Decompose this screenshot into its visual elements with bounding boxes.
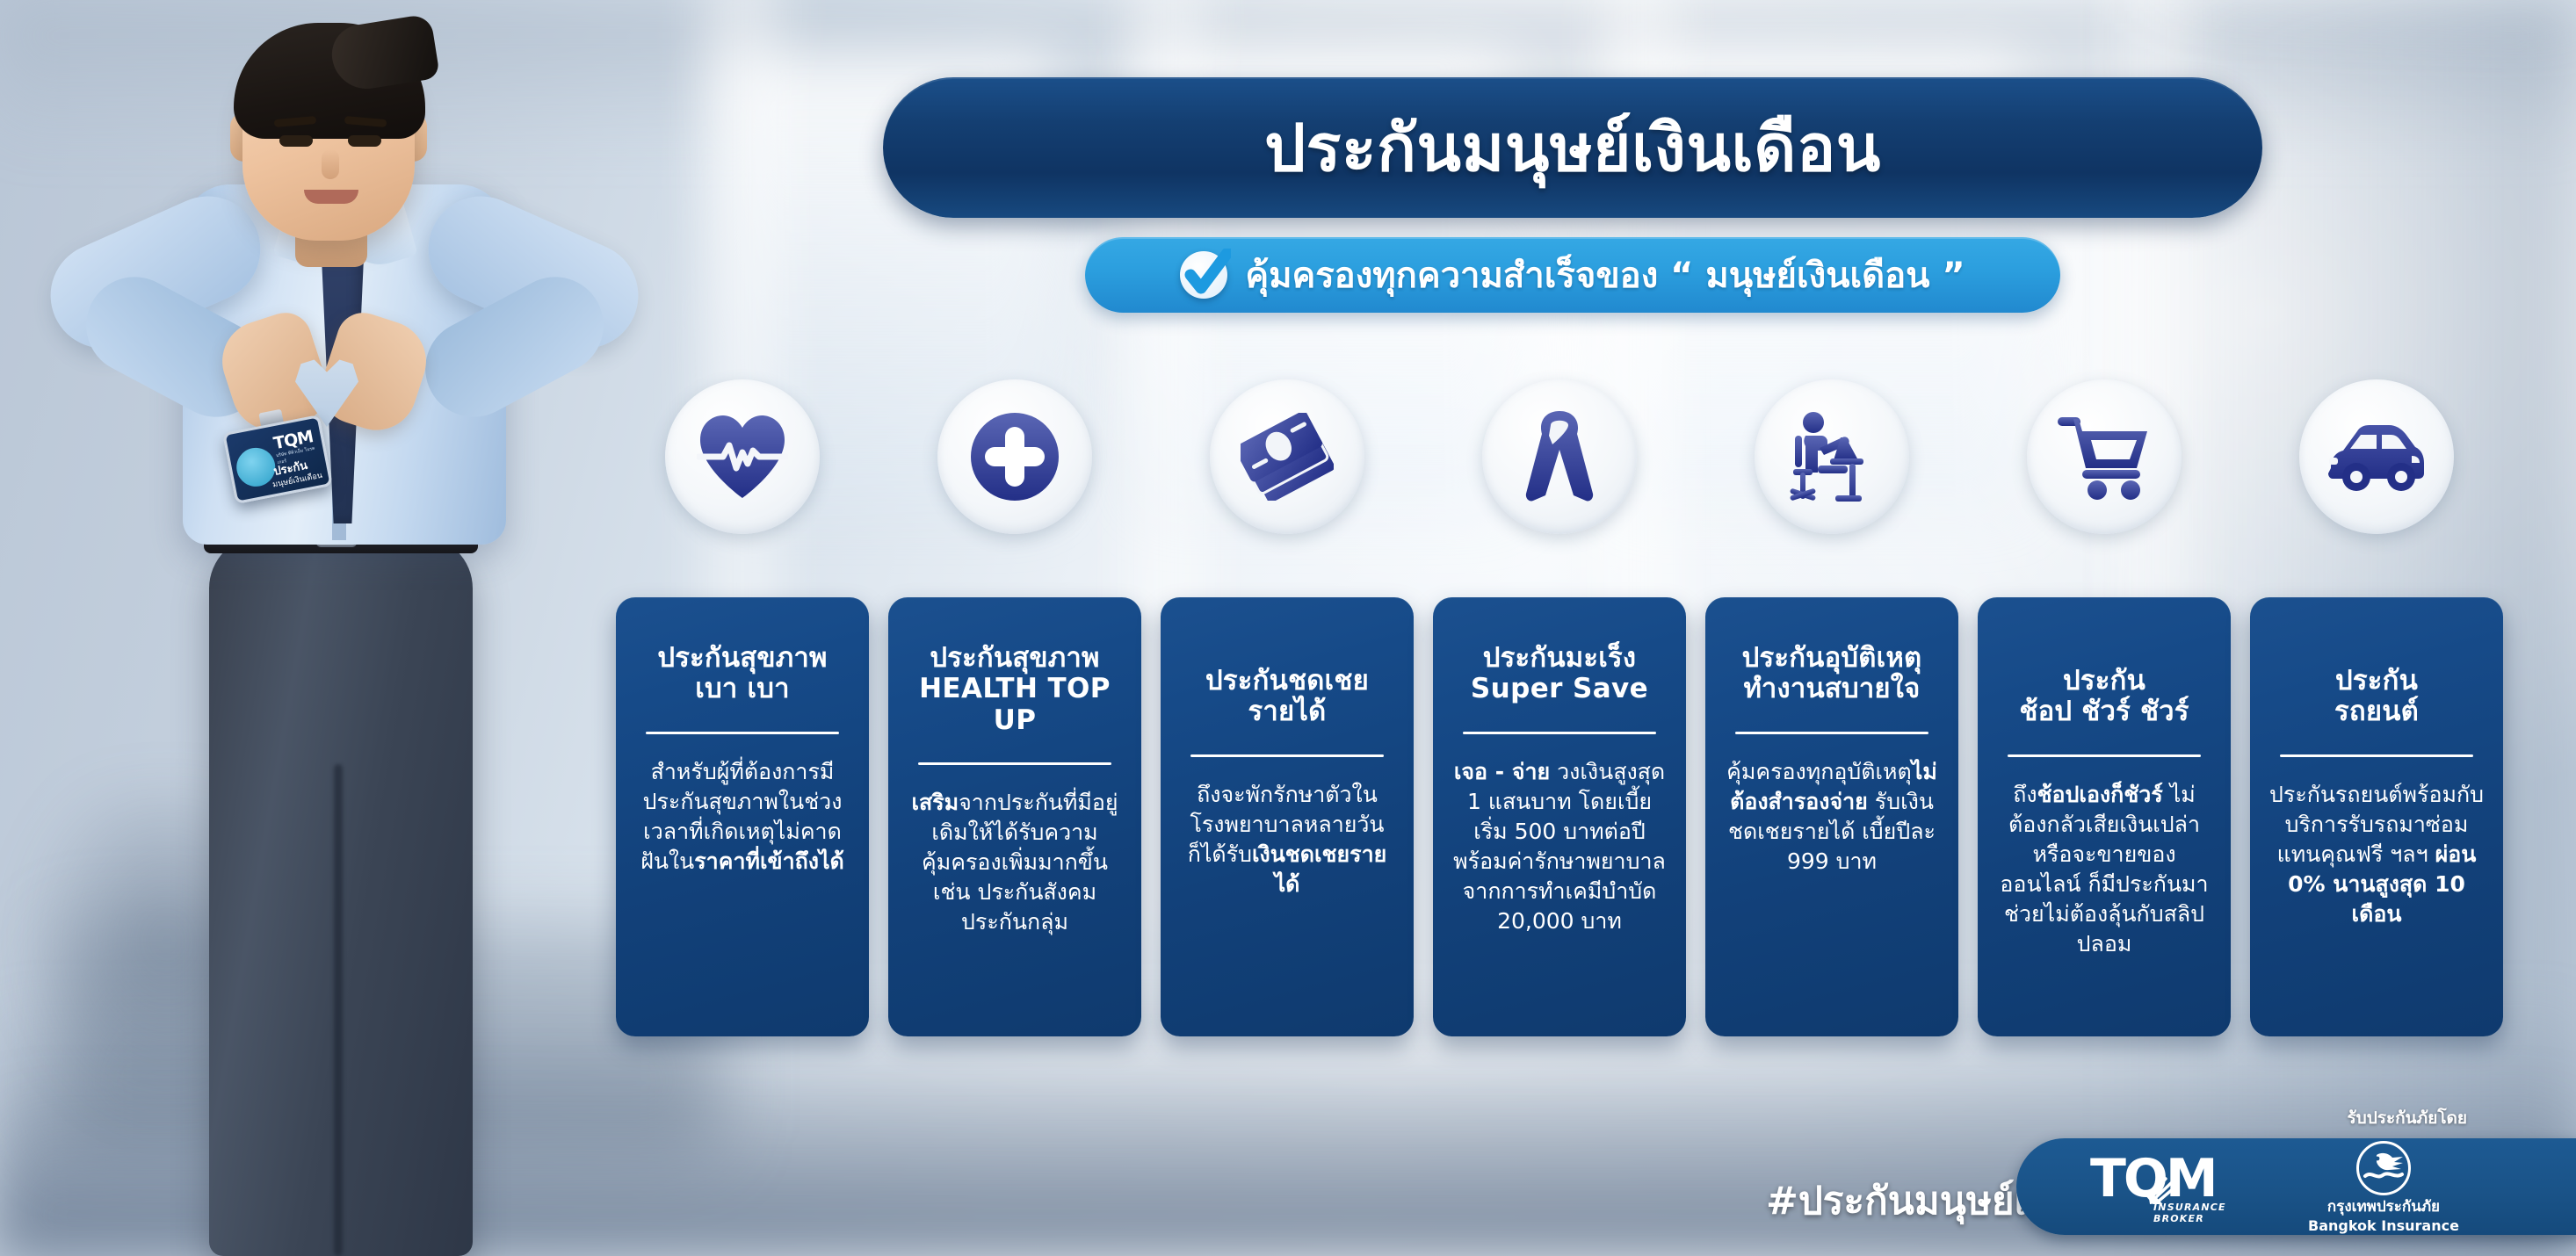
subtitle-text: คุ้มครองทุกความสำเร็จของ “ มนุษย์เงินเดื…: [1245, 247, 1965, 303]
card-divider: [1735, 732, 1928, 734]
product-card-cancer[interactable]: ประกันมะเร็ง Super Save เจอ - จ่าย วงเงิ…: [1433, 597, 1686, 1036]
bangkok-insurance-logo: กรุงเทพประกันภัย Bangkok Insurance: [2308, 1141, 2459, 1233]
card-divider: [2280, 754, 2473, 757]
product-card-health-lite[interactable]: ประกันสุขภาพ เบา เบา สำหรับผู้ที่ต้องการ…: [616, 597, 869, 1036]
subtitle-banner: คุ้มครองทุกความสำเร็จของ “ มนุษย์เงินเดื…: [1085, 237, 2060, 313]
product-card-shopping[interactable]: ประกัน ช้อป ชัวร์ ชัวร์ ถึงช้อปเองก็ชัวร…: [1978, 597, 2231, 1036]
card-body: คุ้มครองทุกอุบัติเหตุไม่ต้องสำรองจ่าย รั…: [1725, 757, 1939, 877]
person-smile: [304, 190, 358, 204]
product-card-income-compensation[interactable]: ประกันชดเชย รายได้ ถึงจะพักรักษาตัวในโรง…: [1161, 597, 1414, 1036]
card-title: ประกันมะเร็ง Super Save: [1471, 643, 1648, 705]
product-card-accident[interactable]: ประกันอุบัติเหตุ ทำงานสบายใจ คุ้มครองทุก…: [1705, 597, 1958, 1036]
footer: รับประกันภัยโดย #ประกันมนุษย์เงินเดือน T…: [1871, 1098, 2574, 1256]
car-icon: [2299, 379, 2454, 534]
card-title: ประกัน ช้อป ชัวร์ ชัวร์: [2019, 666, 2189, 728]
card-title: ประกันอุบัติเหตุ ทำงานสบายใจ: [1742, 643, 1922, 705]
shopping-cart-icon: [2027, 379, 2182, 534]
card-body: ถึงจะพักรักษาตัวในโรงพยาบาลหลายวันก็ได้ร…: [1180, 780, 1394, 899]
bki-name-en: Bangkok Insurance: [2308, 1219, 2459, 1233]
person-leg-seam: [334, 764, 343, 1256]
tqm-logo: TQM INSURANCE BROKER: [2090, 1152, 2266, 1221]
tqm-wordmark: TQM: [2090, 1152, 2266, 1205]
card-body: เสริมจากประกันที่มีอยู่เดิมให้ได้รับความ…: [908, 788, 1122, 937]
card-divider: [2008, 754, 2201, 757]
product-card-row: ประกันสุขภาพ เบา เบา สำหรับผู้ที่ต้องการ…: [606, 597, 2539, 1054]
page-title: ประกันมนุษย์เงินเดือน: [1264, 96, 1881, 199]
card-body: เจอ - จ่าย วงเงินสูงสุด 1 แสนบาท โดยเบี้…: [1452, 757, 1667, 936]
icon-cell-health-topup: [879, 379, 1151, 546]
bki-name-th: กรุงเทพประกันภัย: [2327, 1200, 2440, 1215]
header: ประกันมนุษย์เงินเดือน คุ้มครองทุกความสำเ…: [861, 77, 2284, 313]
insured-by-label: รับประกันภัยโดย: [2347, 1105, 2467, 1131]
card-divider: [646, 732, 839, 734]
card-title: ประกันชดเชย รายได้: [1205, 666, 1369, 728]
card-title: ประกันสุขภาพ HEALTH TOP UP: [908, 643, 1122, 736]
underwriter-logo-pill: TQM INSURANCE BROKER กรุงเทพประกันภัย Ba…: [2016, 1138, 2576, 1235]
icon-cell-income-compensation: [1151, 379, 1423, 546]
card-divider: [918, 762, 1111, 765]
card-body: ประกันรถยนต์พร้อมกับบริการรับรถมาซ่อมแทน…: [2269, 780, 2484, 929]
card-title: ประกันสุขภาพ เบา เบา: [657, 643, 827, 705]
bki-bird-icon: [2356, 1141, 2411, 1195]
heartbeat-icon: [665, 379, 820, 534]
icon-cell-car: [2240, 379, 2513, 546]
icon-cell-accident: [1696, 379, 1968, 546]
card-divider: [1190, 754, 1384, 757]
card-divider: [1463, 732, 1656, 734]
title-banner: ประกันมนุษย์เงินเดือน: [883, 77, 2262, 218]
card-title: ประกัน รถยนต์: [2334, 666, 2419, 728]
product-card-car[interactable]: ประกัน รถยนต์ ประกันรถยนต์พร้อมกับบริการ…: [2250, 597, 2503, 1036]
salaryman-photo: TQM บริษัท ทีคิวเอ็ม โบรคเกอร์ ประกัน มน…: [0, 9, 650, 1256]
card-body: ถึงช้อปเองก็ชัวร์ ไม่ต้องกลัวเสียเงินเปล…: [1997, 780, 2211, 959]
icon-cell-shopping: [1968, 379, 2240, 546]
icon-cell-health-lite: [606, 379, 879, 546]
icon-row: [606, 379, 2539, 546]
card-body: สำหรับผู้ที่ต้องการมีประกันสุขภาพในช่วงเ…: [635, 757, 850, 877]
medical-cross-icon: [937, 379, 1092, 534]
office-worker-icon: [1755, 379, 1909, 534]
tqm-tagline: INSURANCE BROKER: [2153, 1202, 2266, 1224]
person-eye-left: [279, 135, 313, 147]
person-nose: [322, 149, 339, 179]
product-card-health-topup[interactable]: ประกันสุขภาพ HEALTH TOP UP เสริมจากประกั…: [888, 597, 1141, 1036]
icon-cell-cancer: [1423, 379, 1696, 546]
tqm-hand-icon: [2146, 1173, 2176, 1205]
check-icon: [1180, 251, 1227, 299]
banknotes-icon: [1210, 379, 1364, 534]
person-eye-right: [348, 135, 381, 147]
awareness-ribbon-icon: [1482, 379, 1637, 534]
